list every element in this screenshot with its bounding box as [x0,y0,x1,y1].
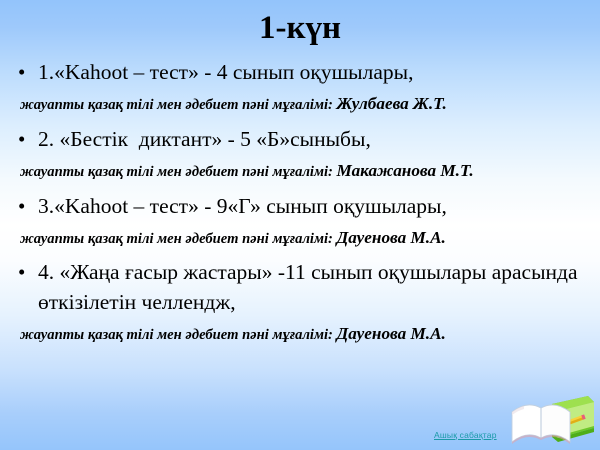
list-item-note: жауапты қазақ тілі мен әдебиет пәні мұға… [14,227,586,250]
page-title: 1-күн [0,7,600,49]
list-item: • 4. «Жаңа ғасыр жастары» -11 сынып оқуш… [14,257,586,317]
list-item-text: 4. «Жаңа ғасыр жастары» -11 сынып оқушыл… [38,257,586,317]
note-teacher-name: Дауенова М.А. [337,228,446,247]
open-lessons-link[interactable]: Ашық сабақтар [434,430,497,440]
open-book-with-pencil-icon [508,392,596,448]
list-item: • 2. «Бестік диктант» - 5 «Б»сыныбы, [14,124,586,154]
bullet-list: • 1.«Kahoot – тест» - 4 сынып оқушылары,… [0,57,600,346]
slide-canvas: 1-күн • 1.«Kahoot – тест» - 4 сынып оқуш… [0,0,600,450]
list-item-text: 1.«Kahoot – тест» - 4 сынып оқушылары, [38,57,586,87]
bullet-marker-icon: • [18,257,38,287]
note-prefix: жауапты қазақ тілі мен әдебиет пәні мұға… [20,327,337,343]
bullet-marker-icon: • [18,124,38,154]
list-item-note: жауапты қазақ тілі мен әдебиет пәні мұға… [14,323,586,346]
list-item-note: жауапты қазақ тілі мен әдебиет пәні мұға… [14,160,586,183]
list-item-text: 3.«Kahoot – тест» - 9«Г» сынып оқушылары… [38,191,586,221]
note-teacher-name: Дауенова М.А. [337,324,446,343]
list-item-text: 2. «Бестік диктант» - 5 «Б»сыныбы, [38,124,586,154]
note-prefix: жауапты қазақ тілі мен әдебиет пәні мұға… [20,231,337,247]
bullet-marker-icon: • [18,57,38,87]
note-prefix: жауапты қазақ тілі мен әдебиет пәні мұға… [20,97,337,113]
list-item: • 1.«Kahoot – тест» - 4 сынып оқушылары, [14,57,586,87]
note-teacher-name: Жулбаева Ж.Т. [337,94,447,113]
note-teacher-name: Макажанова М.Т. [337,161,474,180]
note-prefix: жауапты қазақ тілі мен әдебиет пәні мұға… [20,164,337,180]
bullet-marker-icon: • [18,191,38,221]
list-item: • 3.«Kahoot – тест» - 9«Г» сынып оқушыла… [14,191,586,221]
list-item-note: жауапты қазақ тілі мен әдебиет пәні мұға… [14,93,586,116]
